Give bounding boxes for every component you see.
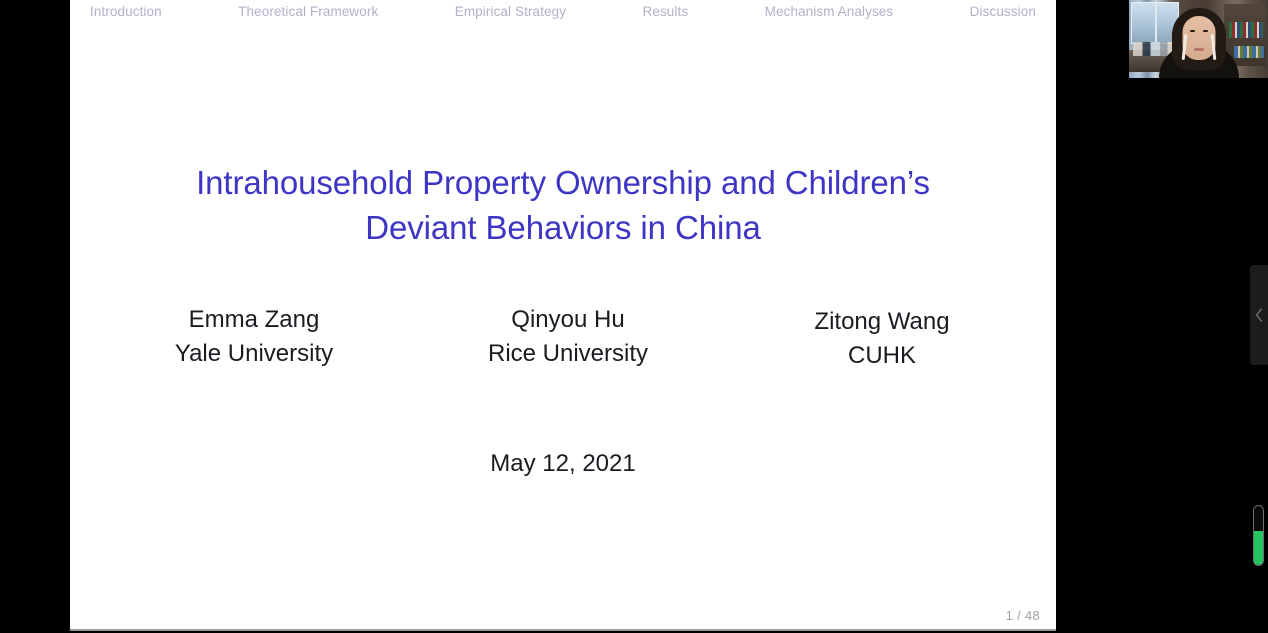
author-name: Emma Zang [104,303,404,337]
slide-title-line-2: Deviant Behaviors in China [70,205,1056,250]
presenter-eye-right [1203,30,1208,32]
slide-title: Intrahousehold Property Ownership and Ch… [70,160,1056,250]
slide-title-line-1: Intrahousehold Property Ownership and Ch… [70,160,1056,205]
author-affiliation: Rice University [428,337,708,371]
nav-item-mechanism-analyses[interactable]: Mechanism Analyses [765,4,894,20]
presenter-video-thumbnail[interactable] [1129,0,1268,78]
author-block-3: Zitong Wang CUHK [742,303,1022,373]
author-name: Zitong Wang [742,305,1022,339]
audio-level-meter[interactable] [1253,505,1264,566]
chevron-left-icon [1254,307,1264,323]
nav-item-introduction[interactable]: Introduction [90,4,162,20]
audio-level-fill [1254,531,1263,565]
author-affiliation: Yale University [104,337,404,371]
nav-item-discussion[interactable]: Discussion [970,4,1036,20]
author-affiliation: CUHK [742,339,1022,373]
books-decor-lower [1234,46,1264,58]
author-block-1: Emma Zang Yale University [104,303,404,371]
nav-item-theoretical-framework[interactable]: Theoretical Framework [238,4,378,20]
slide-section-navigation: Introduction Theoretical Framework Empir… [70,0,1056,28]
slide-page-counter: 1 / 48 [1006,608,1040,623]
presentation-slide[interactable]: Introduction Theoretical Framework Empir… [70,0,1056,631]
presenter-eye-left [1190,30,1195,32]
author-block-2: Qinyou Hu Rice University [428,303,708,371]
nav-item-empirical-strategy[interactable]: Empirical Strategy [455,4,566,20]
presenter-mouth [1194,48,1204,51]
screen-share-window: Introduction Theoretical Framework Empir… [0,0,1268,633]
nav-item-results[interactable]: Results [643,4,689,20]
slide-date: May 12, 2021 [70,448,1056,480]
author-name: Qinyou Hu [428,303,708,337]
author-list: Emma Zang Yale University Qinyou Hu Rice… [70,303,1056,373]
panel-collapse-toggle[interactable] [1250,265,1268,365]
books-decor [1229,22,1263,38]
